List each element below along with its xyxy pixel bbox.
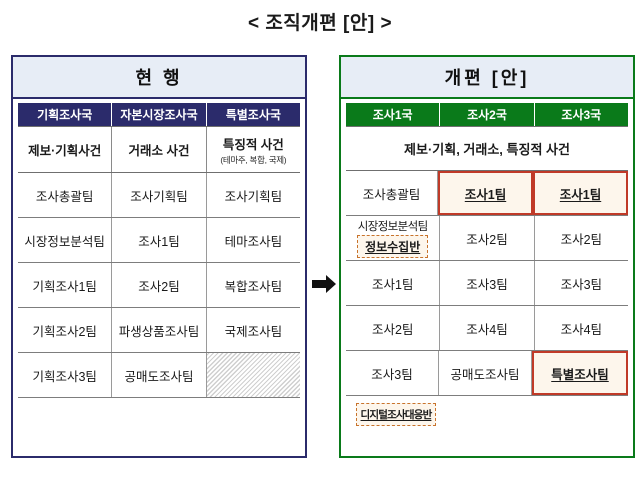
team-cell: 테마조사팀 [207, 218, 300, 262]
table-row: 조사2팀 조사4팀 조사4팀 [346, 306, 628, 351]
table-row: 조사3팀 공매도조사팀 특별조사팀 [346, 351, 628, 396]
table-row: 기획조사1팀 조사2팀 복합조사팀 [18, 263, 300, 308]
team-cell: 조사기획팀 [112, 173, 206, 217]
team-cell: 조사총괄팀 [346, 171, 438, 215]
team-cell: 조사4팀 [440, 306, 534, 350]
table-row: 시장정보분석팀 정보수집반 조사2팀 조사2팀 [346, 216, 628, 261]
team-cell: 기획조사3팀 [18, 353, 112, 397]
team-cell: 파생상품조사팀 [112, 308, 206, 352]
bureau-cell: 자본시장조사국 [112, 103, 206, 126]
team-cell: 조사2팀 [535, 216, 628, 260]
current-panel-body: 기획조사국 자본시장조사국 특별조사국 제보·기획사건 거래소 사건 특징적 사… [13, 99, 305, 454]
current-bureau-row: 기획조사국 자본시장조사국 특별조사국 [18, 103, 300, 126]
table-row: 조사1팀 조사3팀 조사3팀 [346, 261, 628, 306]
team-label: 시장정보분석팀 [358, 218, 428, 234]
team-cell: 조사1팀 [346, 261, 440, 305]
team-cell: 조사4팀 [535, 306, 628, 350]
bureau-cell: 기획조사국 [18, 103, 112, 126]
team-cell: 공매도조사팀 [112, 353, 206, 397]
organization-chart-page: < 조직개편 [안] > 현 행 기획조사국 자본시장조사국 특별조사국 제보·… [0, 0, 640, 482]
sub-unit-badge: 디지털조사대응반 [356, 403, 437, 426]
current-panel-header: 현 행 [13, 57, 305, 99]
bureau-cell: 조사2국 [440, 103, 534, 126]
current-scope-row: 제보·기획사건 거래소 사건 특징적 사건 (테마주, 복합, 국제) [18, 126, 300, 173]
scope-cell: 제보·기획사건 [18, 127, 112, 172]
sub-unit-badge: 정보수집반 [357, 235, 428, 258]
table-row: 기획조사3팀 공매도조사팀 [18, 353, 300, 398]
team-cell-highlighted: 조사1팀 [438, 171, 533, 215]
bureau-cell: 조사3국 [535, 103, 628, 126]
team-cell: 기획조사1팀 [18, 263, 112, 307]
team-cell: 시장정보분석팀 정보수집반 [346, 216, 440, 260]
team-cell-highlighted: 특별조사팀 [532, 351, 628, 395]
table-row: 시장정보분석팀 조사1팀 테마조사팀 [18, 218, 300, 263]
reform-structure-panel: 개편 [안] 조사1국 조사2국 조사3국 제보·기획, 거래소, 특징적 사건… [339, 55, 635, 458]
team-cell: 시장정보분석팀 [18, 218, 112, 262]
team-cell: 조사3팀 [535, 261, 628, 305]
table-row: 기획조사2팀 파생상품조사팀 국제조사팀 [18, 308, 300, 353]
digital-response-unit: 디지털조사대응반 [350, 403, 442, 426]
team-cell: 조사3팀 [440, 261, 534, 305]
reform-scope-merged: 제보·기획, 거래소, 특징적 사건 [346, 126, 628, 171]
empty-hatched-cell [207, 353, 300, 397]
scope-main: 거래소 사건 [129, 140, 190, 159]
team-cell: 국제조사팀 [207, 308, 300, 352]
arrow-right-icon [311, 272, 337, 296]
scope-main: 제보·기획사건 [28, 140, 101, 159]
team-cell: 기획조사2팀 [18, 308, 112, 352]
team-cell: 공매도조사팀 [439, 351, 532, 395]
team-cell: 조사2팀 [112, 263, 206, 307]
current-structure-panel: 현 행 기획조사국 자본시장조사국 특별조사국 제보·기획사건 거래소 사건 특… [11, 55, 307, 458]
scope-cell: 거래소 사건 [112, 127, 206, 172]
page-title: < 조직개편 [안] > [0, 8, 640, 35]
bureau-cell: 조사1국 [346, 103, 440, 126]
team-cell: 조사총괄팀 [18, 173, 112, 217]
team-cell: 조사3팀 [346, 351, 439, 395]
scope-cell: 특징적 사건 (테마주, 복합, 국제) [207, 127, 300, 172]
scope-sub: (테마주, 복합, 국제) [220, 154, 286, 166]
team-cell: 조사2팀 [346, 306, 440, 350]
reform-panel-header: 개편 [안] [341, 57, 633, 99]
team-cell-highlighted: 조사1팀 [533, 171, 628, 215]
table-row: 조사총괄팀 조사1팀 조사1팀 [346, 171, 628, 216]
team-cell: 조사1팀 [112, 218, 206, 262]
team-cell: 조사기획팀 [207, 173, 300, 217]
reform-bureau-row: 조사1국 조사2국 조사3국 [346, 103, 628, 126]
bureau-cell: 특별조사국 [207, 103, 300, 126]
table-row: 조사총괄팀 조사기획팀 조사기획팀 [18, 173, 300, 218]
team-cell: 복합조사팀 [207, 263, 300, 307]
reform-panel-body: 조사1국 조사2국 조사3국 제보·기획, 거래소, 특징적 사건 조사총괄팀 … [341, 99, 633, 454]
team-cell: 조사2팀 [440, 216, 534, 260]
scope-main: 특징적 사건 [223, 134, 284, 153]
